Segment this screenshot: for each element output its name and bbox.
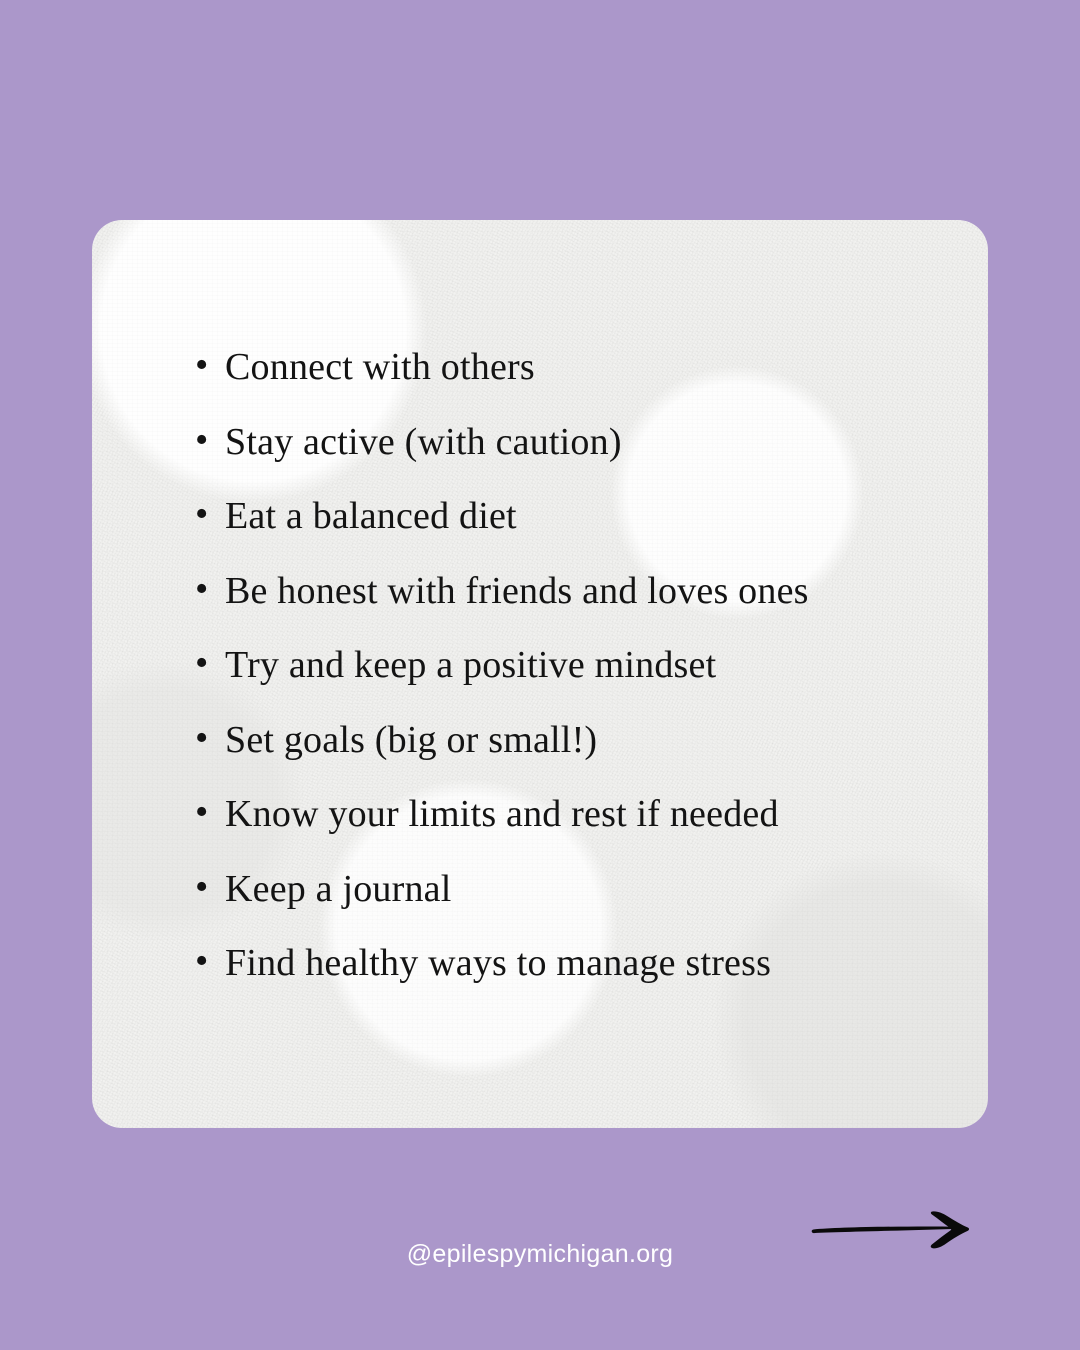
tips-list: • Connect with others • Stay active (wit… bbox=[195, 348, 809, 1019]
list-item-label: Keep a journal bbox=[225, 870, 451, 908]
list-item: • Eat a balanced diet bbox=[195, 497, 809, 572]
bullet-icon: • bbox=[195, 644, 225, 682]
bullet-icon: • bbox=[195, 495, 225, 533]
list-item-label: Try and keep a positive mindset bbox=[225, 646, 716, 684]
list-item: • Set goals (big or small!) bbox=[195, 721, 809, 796]
arrow-right-icon[interactable] bbox=[806, 1203, 980, 1255]
list-item-label: Be honest with friends and loves ones bbox=[225, 572, 809, 610]
bullet-icon: • bbox=[195, 942, 225, 980]
list-item-label: Find healthy ways to manage stress bbox=[225, 944, 771, 982]
bullet-icon: • bbox=[195, 570, 225, 608]
bullet-icon: • bbox=[195, 793, 225, 831]
list-item: • Keep a journal bbox=[195, 870, 809, 945]
bullet-icon: • bbox=[195, 868, 225, 906]
list-item-label: Set goals (big or small!) bbox=[225, 721, 597, 759]
paper-card: • Connect with others • Stay active (wit… bbox=[92, 220, 988, 1128]
bullet-icon: • bbox=[195, 719, 225, 757]
list-item: • Connect with others bbox=[195, 348, 809, 423]
list-item: • Find healthy ways to manage stress bbox=[195, 944, 809, 1019]
list-item-label: Eat a balanced diet bbox=[225, 497, 517, 535]
list-item: • Be honest with friends and loves ones bbox=[195, 572, 809, 647]
list-item: • Know your limits and rest if needed bbox=[195, 795, 809, 870]
bullet-icon: • bbox=[195, 346, 225, 384]
slide-canvas: • Connect with others • Stay active (wit… bbox=[0, 0, 1080, 1350]
list-item: • Try and keep a positive mindset bbox=[195, 646, 809, 721]
bullet-icon: • bbox=[195, 421, 225, 459]
list-item-label: Stay active (with caution) bbox=[225, 423, 622, 461]
list-item-label: Know your limits and rest if needed bbox=[225, 795, 779, 833]
list-item-label: Connect with others bbox=[225, 348, 535, 386]
list-item: • Stay active (with caution) bbox=[195, 423, 809, 498]
